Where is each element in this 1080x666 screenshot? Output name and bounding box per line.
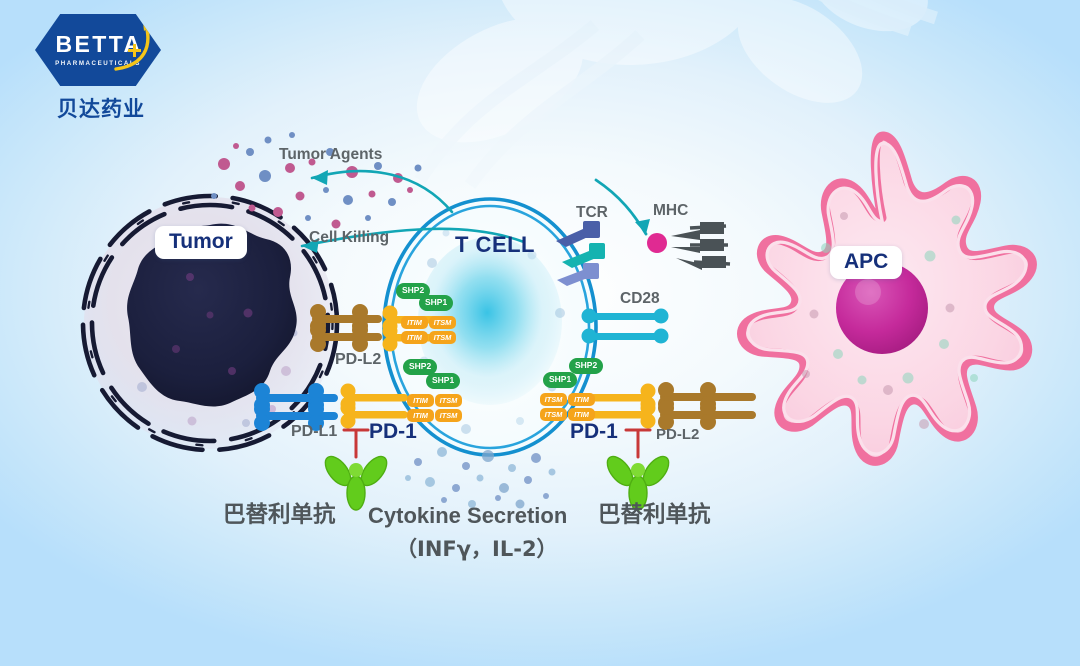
apc-label-badge: APC	[830, 246, 902, 279]
tcr-label: TCR	[576, 205, 608, 221]
pd-1-left-label: PD-1	[369, 421, 417, 442]
itsm-chip: ITSM	[435, 409, 462, 422]
itim-chip: ITIM	[407, 394, 434, 407]
shp1-chip: SHP1	[426, 373, 460, 389]
shp1-chip: SHP1	[419, 295, 453, 311]
itsm-chip: ITSM	[435, 394, 462, 407]
logo-swoosh-icon	[110, 19, 156, 77]
itim-chip: ITIM	[568, 408, 595, 421]
cytokine-detail-caption: （INFγ，IL-2）	[396, 539, 558, 560]
antigen-peptide	[647, 233, 667, 253]
itsm-chip: ITSM	[429, 316, 456, 329]
antibody-left-caption: 巴替利单抗	[223, 504, 336, 527]
shp2-chip: SHP2	[569, 358, 603, 374]
itim-chip: ITIM	[401, 316, 428, 329]
antibody-right-caption: 巴替利单抗	[598, 504, 711, 527]
tumor-agents-label: Tumor Agents	[279, 147, 382, 163]
diagram-canvas: BETTA PHARMACEUTICALS 贝达药业	[0, 0, 1080, 666]
itsm-chip: ITSM	[540, 393, 567, 406]
mhc-label: MHC	[653, 203, 688, 219]
tcell-label: T CELL	[455, 234, 535, 256]
apc-cell	[718, 128, 1048, 478]
logo-chinese-name: 贝达药业	[31, 93, 171, 123]
brand-logo: BETTA PHARMACEUTICALS 贝达药业	[31, 14, 171, 122]
inhibition-marker-right	[626, 430, 650, 457]
itsm-chip: ITSM	[540, 408, 567, 421]
pd-l1-left-label: PD-L1	[291, 424, 337, 440]
itsm-chip: ITSM	[429, 331, 456, 344]
shp1-chip: SHP1	[543, 372, 577, 388]
itim-chip: ITIM	[401, 331, 428, 344]
arrow-head-mhc	[635, 219, 650, 234]
cd28-label: CD28	[620, 291, 660, 307]
pd-1-right-label: PD-1	[570, 421, 618, 442]
logo-hexagon: BETTA PHARMACEUTICALS	[35, 14, 161, 86]
tumor-label-badge: Tumor	[155, 226, 247, 259]
itim-chip: ITIM	[407, 409, 434, 422]
itim-chip: ITIM	[568, 393, 595, 406]
pd-l2-left-label: PD-L2	[335, 352, 381, 368]
inhibition-marker-left	[344, 430, 368, 457]
cell-killing-label: Cell Killing	[309, 230, 389, 246]
pd-l2-right-label: PD-L2	[656, 427, 699, 442]
cytokine-secretion-caption: Cytokine Secretion	[368, 505, 567, 527]
